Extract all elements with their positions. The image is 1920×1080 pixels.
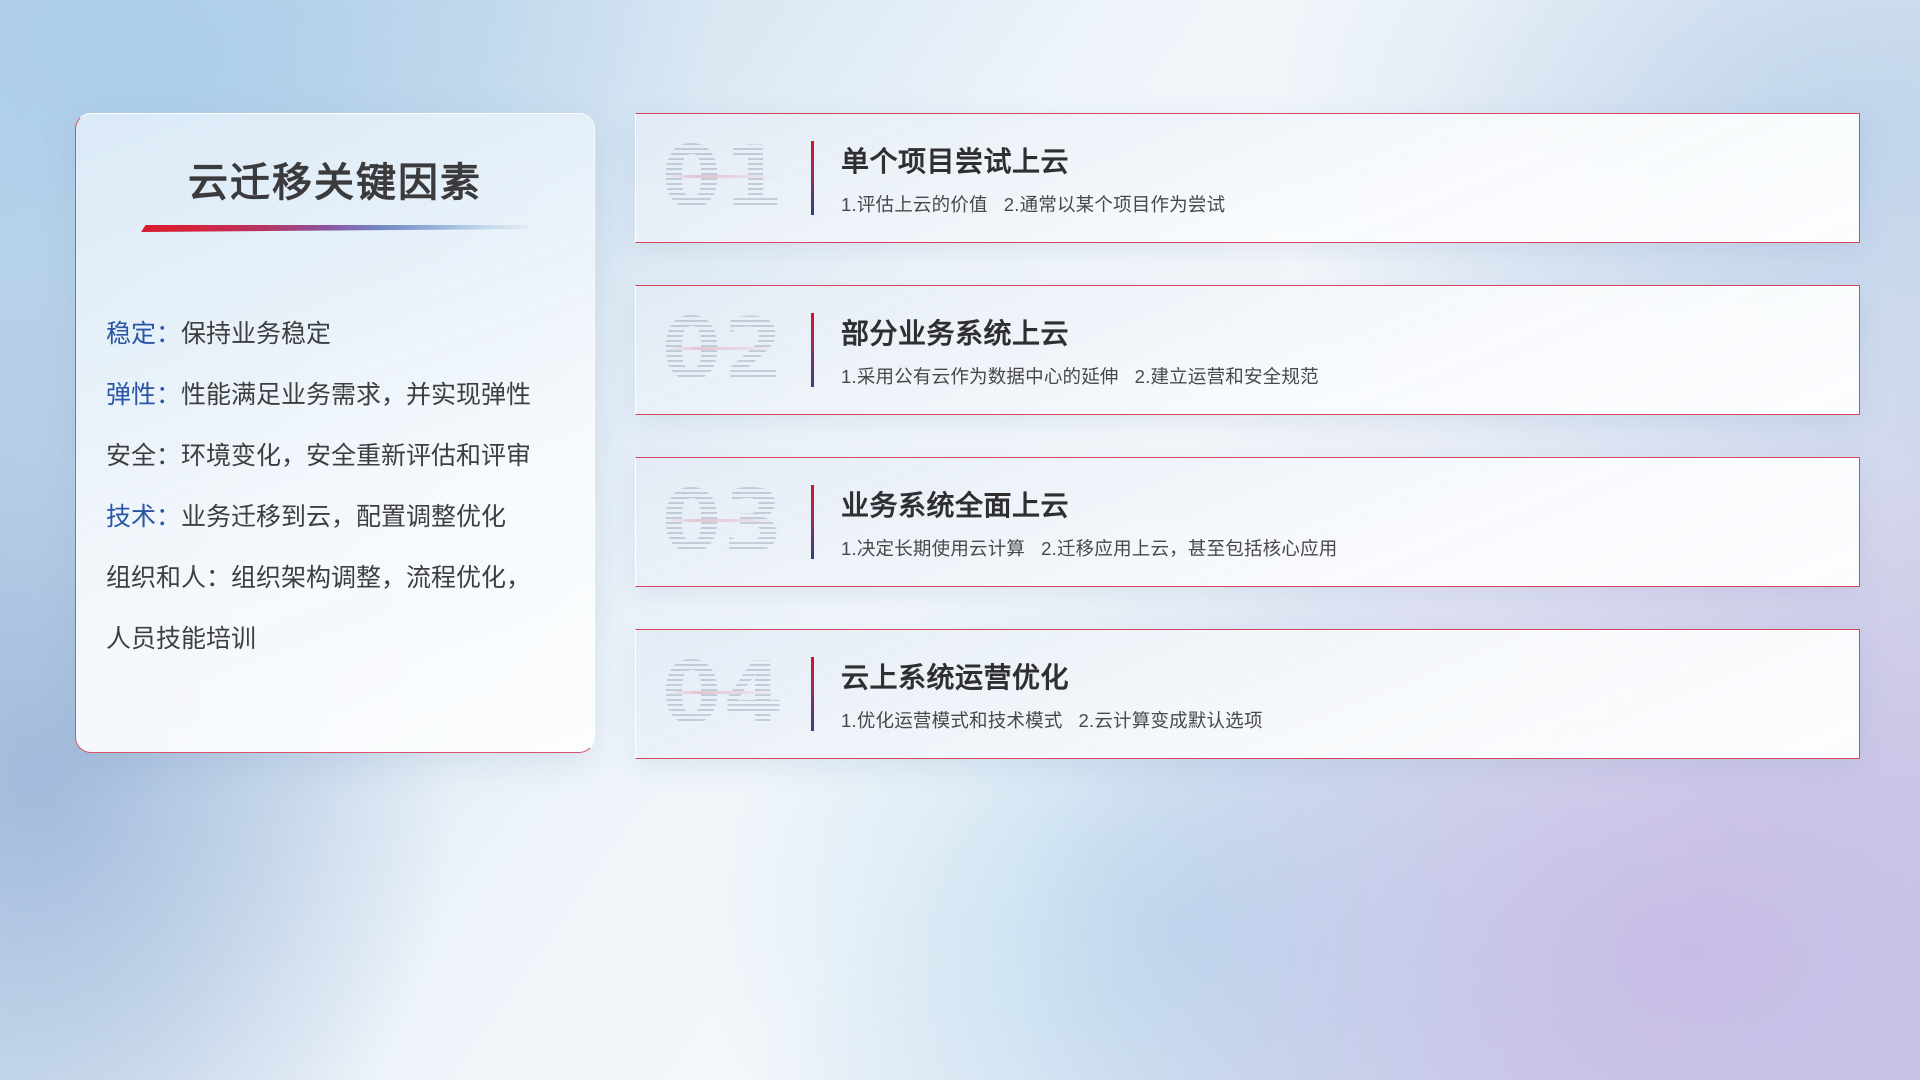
migration-steps-list: 01 单个项目尝试上云 1.评估上云的价值2.通常以某个项目作为尝试 02 部分… xyxy=(635,113,1860,759)
title-underline-accent xyxy=(141,225,529,232)
factor-item: 安全：环境变化，安全重新评估和评审 xyxy=(106,426,594,487)
factor-value: 组织架构调整，流程优化， xyxy=(231,564,531,592)
step-point-2: 2.通常以某个项目作为尝试 xyxy=(1004,194,1226,215)
step-description: 1.优化运营模式和技术模式2.云计算变成默认选项 xyxy=(841,707,1263,733)
step-description: 1.评估上云的价值2.通常以某个项目作为尝试 xyxy=(841,191,1225,217)
step-text-block: 部分业务系统上云 1.采用公有云作为数据中心的延伸2.建立运营和安全规范 xyxy=(814,312,1319,389)
factor-value: 人员技能培训 xyxy=(106,625,256,653)
step-number: 02 xyxy=(636,285,811,415)
step-title: 部分业务系统上云 xyxy=(841,312,1319,352)
step-title: 云上系统运营优化 xyxy=(841,656,1263,696)
factor-key: 稳定： xyxy=(106,320,181,348)
factor-key: 弹性： xyxy=(106,381,181,409)
step-card[interactable]: 04 云上系统运营优化 1.优化运营模式和技术模式2.云计算变成默认选项 xyxy=(635,629,1860,759)
slide-canvas: 云迁移关键因素 稳定：保持业务稳定 弹性：性能满足业务需求，并实现弹性 安全：环… xyxy=(0,0,1920,1080)
step-number: 04 xyxy=(636,629,811,759)
factor-value: 环境变化，安全重新评估和评审 xyxy=(181,442,531,470)
factor-value: 业务迁移到云，配置调整优化 xyxy=(181,503,506,531)
step-card[interactable]: 01 单个项目尝试上云 1.评估上云的价值2.通常以某个项目作为尝试 xyxy=(635,113,1860,243)
step-text-block: 单个项目尝试上云 1.评估上云的价值2.通常以某个项目作为尝试 xyxy=(814,140,1225,217)
factor-item: 组织和人：组织架构调整，流程优化， xyxy=(106,548,594,609)
panel-title: 云迁移关键因素 xyxy=(76,150,594,208)
step-point-2: 2.迁移应用上云，甚至包括核心应用 xyxy=(1041,538,1337,559)
key-factors-panel: 云迁移关键因素 稳定：保持业务稳定 弹性：性能满足业务需求，并实现弹性 安全：环… xyxy=(75,113,595,753)
step-point-1: 1.评估上云的价值 xyxy=(841,194,988,215)
step-card[interactable]: 03 业务系统全面上云 1.决定长期使用云计算2.迁移应用上云，甚至包括核心应用 xyxy=(635,457,1860,587)
step-text-block: 云上系统运营优化 1.优化运营模式和技术模式2.云计算变成默认选项 xyxy=(814,656,1263,733)
step-point-1: 1.采用公有云作为数据中心的延伸 xyxy=(841,366,1119,387)
factor-key: 技术： xyxy=(106,503,181,531)
factor-item: 稳定：保持业务稳定 xyxy=(106,304,594,365)
factor-value: 保持业务稳定 xyxy=(181,320,331,348)
factor-item: 弹性：性能满足业务需求，并实现弹性 xyxy=(106,365,594,426)
factor-value: 性能满足业务需求，并实现弹性 xyxy=(181,381,531,409)
step-title: 业务系统全面上云 xyxy=(841,484,1337,524)
step-number: 01 xyxy=(636,113,811,243)
step-description: 1.决定长期使用云计算2.迁移应用上云，甚至包括核心应用 xyxy=(841,535,1337,561)
step-card[interactable]: 02 部分业务系统上云 1.采用公有云作为数据中心的延伸2.建立运营和安全规范 xyxy=(635,285,1860,415)
step-point-1: 1.优化运营模式和技术模式 xyxy=(841,710,1063,731)
factor-key: 安全： xyxy=(106,442,181,470)
step-point-2: 2.建立运营和安全规范 xyxy=(1135,366,1319,387)
step-number: 03 xyxy=(636,457,811,587)
factor-key: 组织和人： xyxy=(106,564,231,592)
step-point-1: 1.决定长期使用云计算 xyxy=(841,538,1025,559)
factor-item: 技术：业务迁移到云，配置调整优化 xyxy=(106,487,594,548)
step-description: 1.采用公有云作为数据中心的延伸2.建立运营和安全规范 xyxy=(841,363,1319,389)
factor-item: 人员技能培训 xyxy=(106,609,594,670)
factor-list: 稳定：保持业务稳定 弹性：性能满足业务需求，并实现弹性 安全：环境变化，安全重新… xyxy=(106,304,594,670)
step-text-block: 业务系统全面上云 1.决定长期使用云计算2.迁移应用上云，甚至包括核心应用 xyxy=(814,484,1337,561)
step-title: 单个项目尝试上云 xyxy=(841,140,1225,180)
step-point-2: 2.云计算变成默认选项 xyxy=(1079,710,1263,731)
